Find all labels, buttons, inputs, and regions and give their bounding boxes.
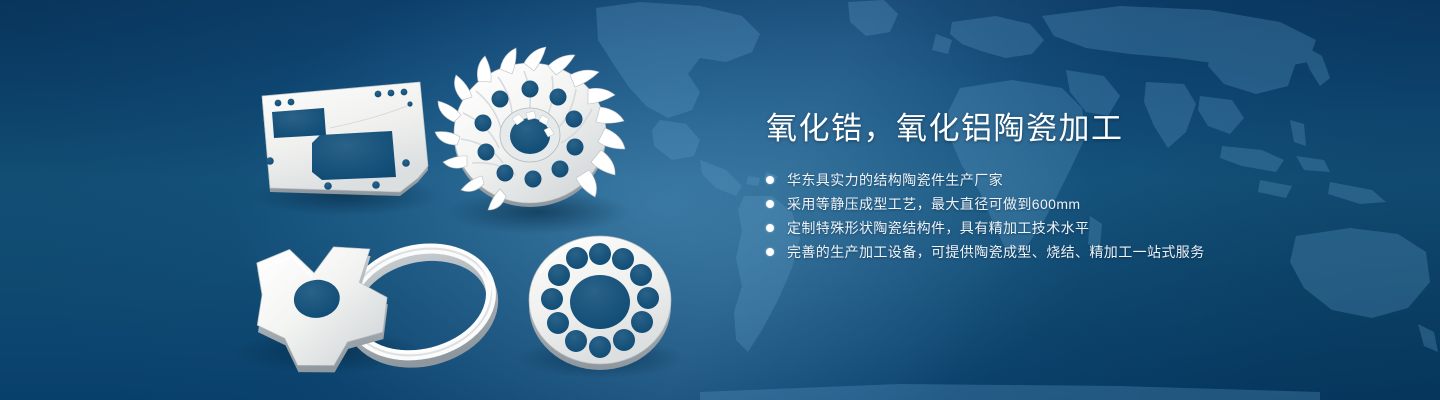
banner-copy: 氧化锆，氧化铝陶瓷加工 华东具实力的结构陶瓷件生产厂家 采用等静压成型工艺，最大…	[766, 108, 1406, 264]
hero-banner: 氧化锆，氧化铝陶瓷加工 华东具实力的结构陶瓷件生产厂家 采用等静压成型工艺，最大…	[0, 0, 1440, 400]
feature-text: 定制特殊形状陶瓷结构件，具有精加工技术水平	[787, 217, 1089, 239]
bullet-dot-icon	[766, 200, 774, 208]
bullet-dot-icon	[766, 224, 774, 232]
feature-text: 华东具实力的结构陶瓷件生产厂家	[787, 169, 1003, 191]
feature-text: 采用等静压成型工艺，最大直径可做到600mm	[787, 193, 1080, 215]
list-item: 华东具实力的结构陶瓷件生产厂家	[766, 168, 1406, 191]
list-item: 定制特殊形状陶瓷结构件，具有精加工技术水平	[766, 216, 1406, 239]
list-item: 采用等静压成型工艺，最大直径可做到600mm	[766, 192, 1406, 215]
banner-headline: 氧化锆，氧化铝陶瓷加工	[766, 108, 1406, 150]
ceramic-perforated-disc-shape	[529, 236, 671, 370]
ceramic-products-image	[0, 0, 720, 400]
bullet-dot-icon	[766, 176, 774, 184]
ceramic-mounting-plate-shape	[262, 82, 428, 196]
bullet-dot-icon	[766, 248, 774, 256]
feature-text: 完善的生产加工设备，可提供陶瓷成型、烧结、精加工一站式服务	[787, 241, 1205, 263]
feature-list: 华东具实力的结构陶瓷件生产厂家 采用等静压成型工艺，最大直径可做到600mm 定…	[766, 168, 1406, 263]
ceramic-bladed-impeller-shape	[435, 47, 625, 210]
list-item: 完善的生产加工设备，可提供陶瓷成型、烧结、精加工一站式服务	[766, 240, 1406, 263]
